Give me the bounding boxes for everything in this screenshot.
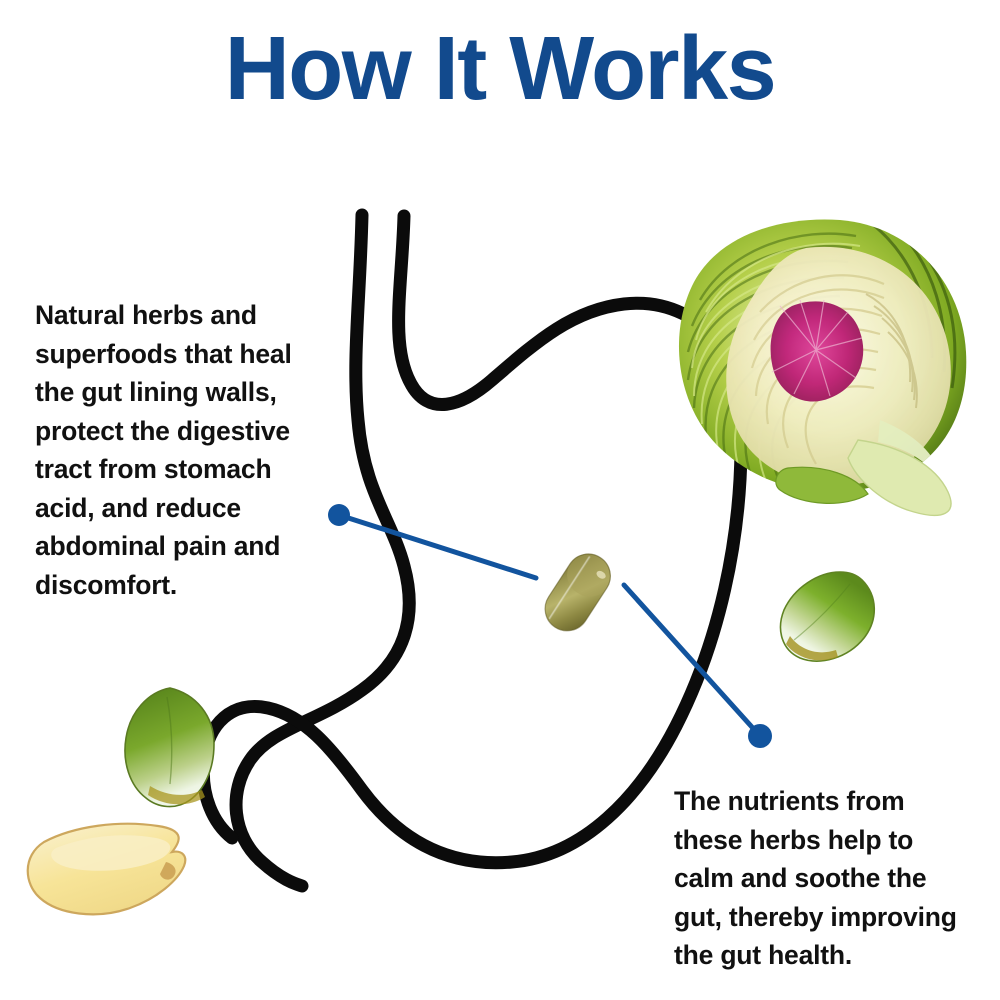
leader-dot-left	[328, 504, 350, 526]
leader-dot-right	[748, 724, 772, 748]
callout-leader-lines	[0, 0, 1000, 1000]
callout-leader-right	[624, 585, 772, 748]
callout-leader-left	[328, 504, 536, 578]
infographic-canvas: How It Works Natural herbs and superfood…	[0, 0, 1000, 1000]
leader-line-left	[339, 515, 536, 578]
leader-line-right	[624, 585, 760, 736]
